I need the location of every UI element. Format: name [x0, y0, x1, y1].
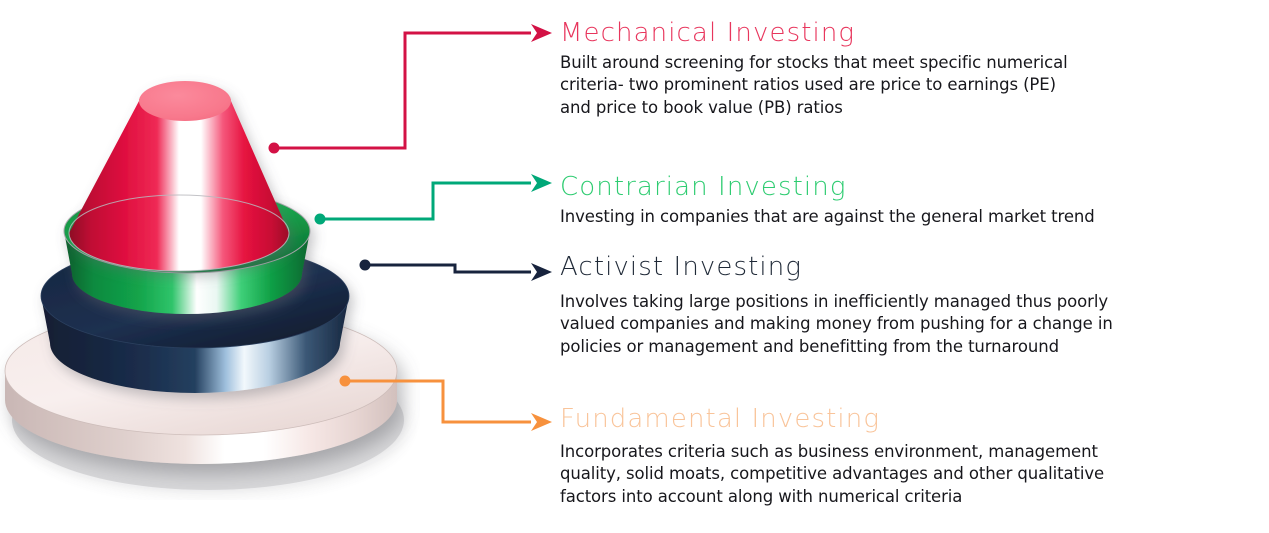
section-fundamental-investing: Fundamental Investing Incorporates crite…: [560, 404, 1250, 508]
body-line: valued companies and making money from p…: [560, 313, 1250, 336]
cone-layer-mechanical[interactable]: [69, 81, 289, 271]
arrow-head-mechanical: [531, 24, 552, 42]
diagram-root: Mechanical Investing Built around screen…: [0, 0, 1269, 533]
body-line: criteria- two prominent ratios used are …: [560, 74, 1250, 97]
section-body-fundamental: Incorporates criteria such as business e…: [560, 441, 1250, 509]
layered-cone-graphic: [0, 0, 420, 500]
body-line: Built around screening for stocks that m…: [560, 52, 1250, 75]
section-body-mechanical: Built around screening for stocks that m…: [560, 52, 1250, 120]
body-line: Involves taking large positions in ineff…: [560, 291, 1250, 314]
arrow-head-activist: [531, 263, 552, 281]
cone-top-cap: [139, 81, 231, 121]
section-body-activist: Involves taking large positions in ineff…: [560, 291, 1250, 359]
section-title-mechanical: Mechanical Investing: [560, 18, 1250, 49]
body-line: and price to book value (PB) ratios: [560, 97, 1250, 120]
section-contrarian-investing: Contrarian Investing Investing in compan…: [560, 172, 1250, 228]
body-line: Incorporates criteria such as business e…: [560, 441, 1250, 464]
section-title-activist: Activist Investing: [560, 252, 1250, 283]
section-body-contrarian: Investing in companies that are against …: [560, 206, 1250, 229]
section-title-contrarian: Contrarian Investing: [560, 172, 1250, 203]
body-line: factors into account along with numerica…: [560, 486, 1250, 509]
arrow-head-fundamental: [531, 413, 552, 431]
body-line: policies or management and benefitting f…: [560, 336, 1250, 359]
section-activist-investing: Activist Investing Involves taking large…: [560, 252, 1250, 358]
section-mechanical-investing: Mechanical Investing Built around screen…: [560, 18, 1250, 119]
section-title-fundamental: Fundamental Investing: [560, 404, 1250, 435]
text-column: Mechanical Investing Built around screen…: [560, 0, 1260, 533]
arrow-head-contrarian: [531, 174, 552, 192]
body-line: quality, solid moats, competitive advant…: [560, 463, 1250, 486]
body-line: Investing in companies that are against …: [560, 206, 1250, 229]
